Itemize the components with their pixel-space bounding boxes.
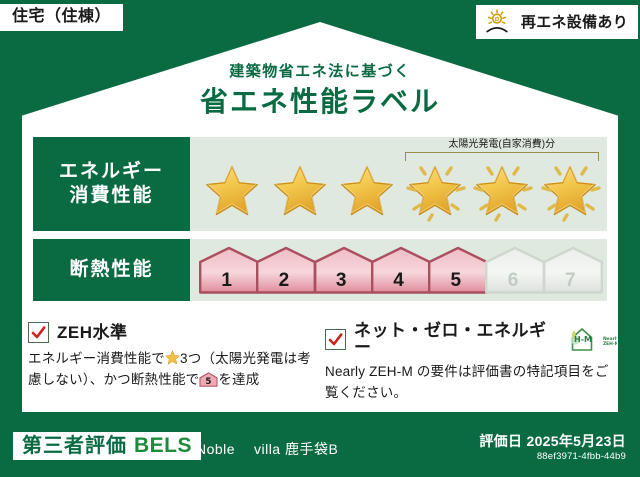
- energy-caption-line1: エネルギー: [59, 160, 164, 184]
- energy-star-3: [331, 157, 399, 227]
- insulation-grade-5: 5: [427, 245, 484, 295]
- bels-en-label: BELS: [134, 435, 192, 456]
- grade-value: 1: [198, 271, 255, 290]
- insulation-caption-label: 断熱性能: [69, 258, 153, 282]
- svg-text:H-M: H-M: [574, 335, 592, 344]
- net-zero-energy-description: Nearly ZEH-M の要件は評価書の特記項目をご覧ください。: [325, 362, 617, 404]
- insulation-grade-6: 6: [484, 245, 541, 295]
- insulation-performance-meter: 1234567: [190, 239, 607, 301]
- footer-bar: 第三者評価 BELS Noble villa 鹿手袋B 評価日 2025年5月2…: [0, 422, 640, 477]
- insulation-grade-7: 7: [542, 245, 599, 295]
- insulation-grade-1: 1: [198, 245, 255, 295]
- zeh-standard-panel: ZEH水準 エネルギー消費性能で3つ（太陽光発電は考慮しない）、かつ断熱性能で5…: [28, 322, 320, 391]
- zeh-desc-pre: エネルギー消費性能で: [28, 351, 165, 366]
- net-zero-energy-panel: ネット・ゼロ・エネルギー H-M Nearly ZEH-M Nearly ZEH…: [325, 322, 617, 404]
- zeh-standard-header: ZEH水準: [28, 322, 320, 343]
- svg-text:5: 5: [206, 377, 212, 387]
- net-zero-energy-header: ネット・ゼロ・エネルギー H-M Nearly ZEH-M: [325, 322, 617, 356]
- label-title: 省エネ性能ラベル: [0, 80, 640, 120]
- energy-performance-row: エネルギー 消費性能 太陽光発電(自家消費)分: [33, 137, 607, 231]
- star-icon: [267, 161, 333, 223]
- inline-star-icon: [165, 350, 180, 365]
- svg-text:ZEH-M: ZEH-M: [603, 341, 617, 347]
- renewable-equipment-badge: D 再エネ設備あり: [476, 5, 638, 39]
- energy-star-2: [264, 157, 332, 227]
- energy-caption-line2: 消費性能: [69, 184, 153, 208]
- building-name: Noble villa 鹿手袋B: [196, 439, 338, 459]
- energy-star-5: [466, 157, 534, 227]
- insulation-grade-4: 4: [370, 245, 427, 295]
- nearly-zeh-m-logo: H-M Nearly ZEH-M: [567, 326, 617, 352]
- solar-sparkle-icon: [399, 157, 473, 227]
- net-zero-energy-checkbox[interactable]: [325, 329, 346, 350]
- insulation-grade-3: 3: [313, 245, 370, 295]
- zeh-desc-post: を達成: [218, 372, 259, 387]
- evaluation-date: 評価日 2025年5月23日: [479, 431, 626, 451]
- sun-renewable-icon: D: [484, 9, 514, 35]
- energy-star-group: [190, 155, 607, 229]
- check-icon: [328, 332, 343, 347]
- grade-value: 4: [370, 271, 427, 290]
- grade-value: 5: [427, 271, 484, 290]
- solar-sparkle-icon: [466, 157, 540, 227]
- evaluation-date-label: 評価日: [479, 433, 522, 449]
- inline-grade-icon: 5: [199, 372, 218, 387]
- insulation-grade-group: 1234567: [190, 242, 607, 298]
- grade-value: 6: [484, 271, 541, 290]
- energy-performance-caption: エネルギー 消費性能: [33, 137, 190, 231]
- zeh-standard-description: エネルギー消費性能で3つ（太陽光発電は考慮しない）、かつ断熱性能で5を達成: [28, 349, 320, 391]
- grade-value: 2: [255, 271, 312, 290]
- label-subtitle: 建築物省エネ法に基づく: [0, 60, 640, 81]
- zeh-standard-title: ZEH水準: [57, 324, 128, 341]
- energy-star-6: [534, 157, 602, 227]
- net-zero-energy-title: ネット・ゼロ・エネルギー: [354, 322, 559, 356]
- star-icon: [199, 161, 265, 223]
- solar-generation-note: 太陽光発電(自家消費)分: [403, 138, 602, 152]
- svg-text:D: D: [495, 17, 500, 23]
- bels-badge: 第三者評価 BELS: [13, 432, 201, 460]
- energy-star-4: [399, 157, 467, 227]
- building-type-badge: 住宅（住棟）: [0, 4, 123, 31]
- insulation-grade-2: 2: [255, 245, 312, 295]
- insulation-performance-caption: 断熱性能: [33, 239, 190, 301]
- insulation-performance-row: 断熱性能 1234567: [33, 239, 607, 301]
- energy-performance-label: 住宅（住棟） D 再エネ設備あり 建築物省エネ法に基づく 省エネ性: [0, 0, 640, 477]
- solar-sparkle-icon: [534, 157, 608, 227]
- bels-jp-label: 第三者評価: [22, 436, 127, 456]
- grade-value: 7: [542, 271, 599, 290]
- renewable-equipment-label: 再エネ設備あり: [521, 15, 628, 30]
- zeh-standard-checkbox[interactable]: [28, 322, 49, 343]
- star-icon: [334, 161, 400, 223]
- evaluation-date-value: 2025年5月23日: [526, 433, 626, 449]
- energy-performance-meter: 太陽光発電(自家消費)分: [190, 137, 607, 231]
- grade-value: 3: [313, 271, 370, 290]
- check-icon: [31, 325, 46, 340]
- evaluation-id: 88ef3971-4fbb-44b9: [537, 451, 626, 462]
- energy-star-1: [196, 157, 264, 227]
